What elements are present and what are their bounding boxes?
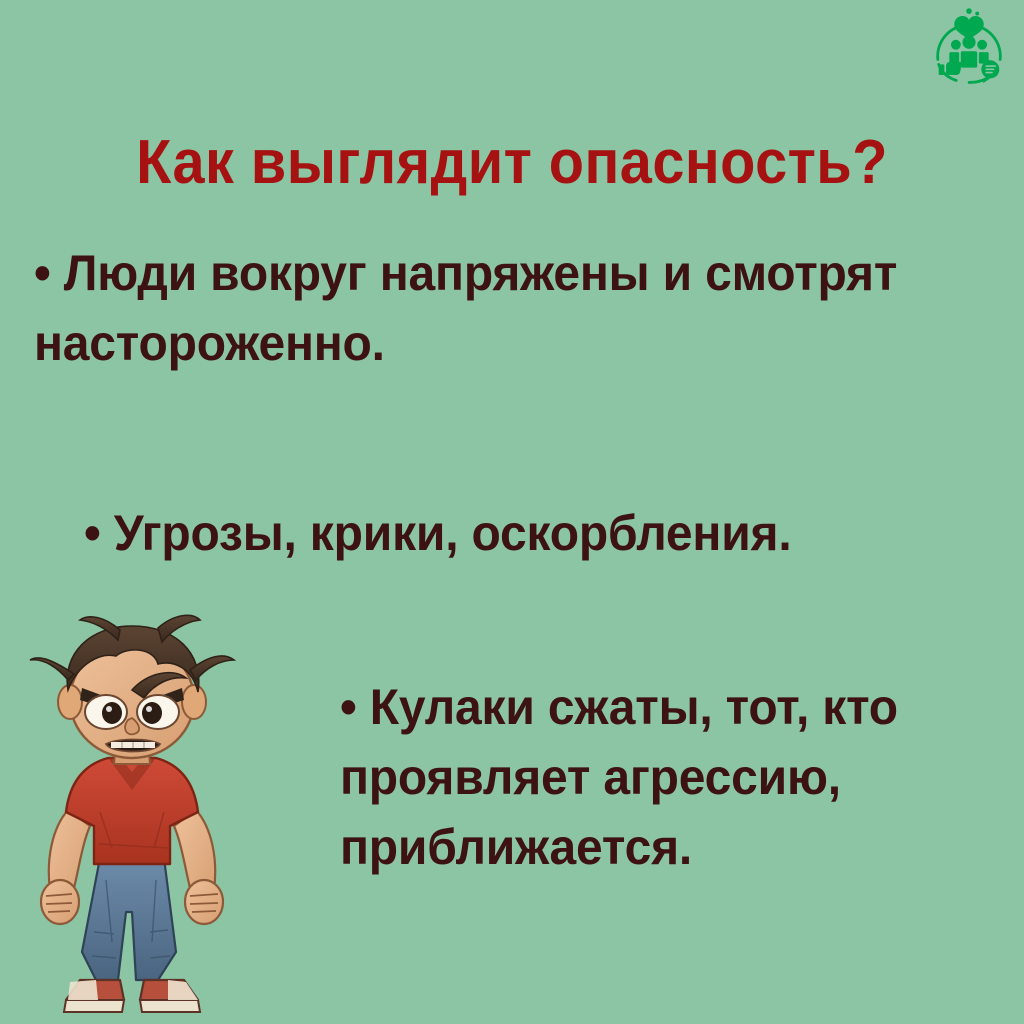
heart-icon	[954, 8, 984, 39]
bullet-marker-1: •	[34, 245, 51, 301]
bullet-item-3: • Кулаки сжаты, тот, кто проявляет агрес…	[340, 672, 993, 882]
speech-bubble-icon	[981, 60, 999, 83]
bullet-item-2: • Угрозы, крики, оскорбления.	[84, 498, 929, 568]
sneakers	[64, 980, 200, 1012]
clenched-fist-right	[185, 880, 223, 924]
poster-canvas: Как выглядит опасность? • Люди вокруг на…	[0, 0, 1024, 1024]
page-title: Как выглядит опасность?	[36, 130, 988, 196]
gritted-teeth-mouth	[106, 740, 160, 752]
red-tshirt	[66, 755, 198, 864]
jeans	[82, 858, 176, 980]
family-support-logo	[928, 6, 1010, 90]
bullet-text-1: Люди вокруг напряжены и смотрят насторож…	[34, 245, 897, 371]
bullet-marker-2: •	[84, 505, 101, 561]
bullet-marker-3: •	[340, 679, 357, 735]
clenched-fist-left	[41, 880, 79, 924]
angry-boy-illustration	[8, 612, 256, 1024]
bullet-item-1: • Люди вокруг напряжены и смотрят настор…	[34, 238, 984, 378]
head	[30, 615, 234, 758]
bullet-text-2: Угрозы, крики, оскорбления.	[114, 505, 792, 561]
bullet-text-3: Кулаки сжаты, тот, кто проявляет агресси…	[340, 679, 898, 875]
